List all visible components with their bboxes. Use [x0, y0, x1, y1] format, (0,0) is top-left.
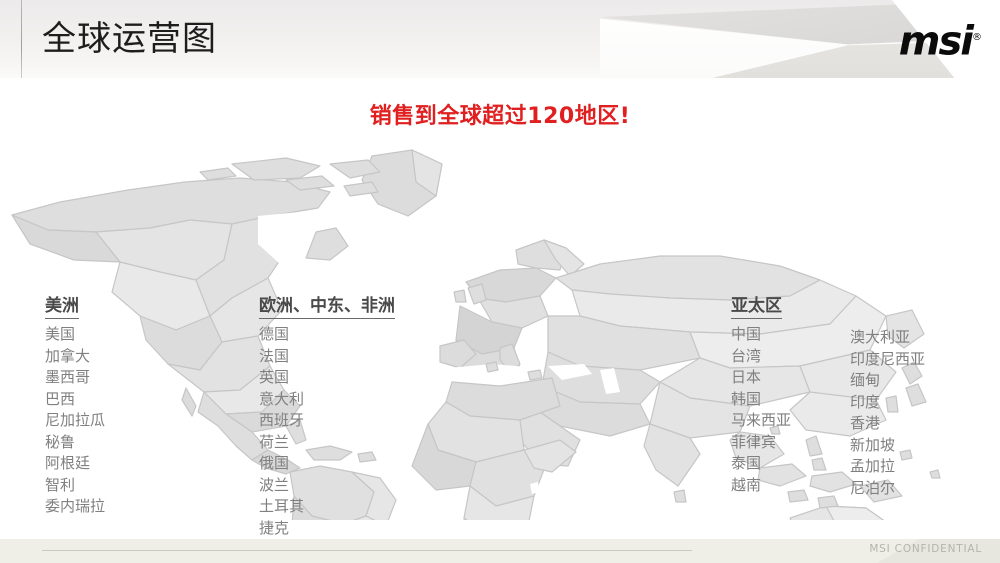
list-item: 马来西亚: [731, 410, 791, 432]
region-block-emea: 欧洲、中东、非洲 德国 法国 英国 意大利 西班牙 荷兰 俄国 波兰 土耳其 捷…: [259, 296, 395, 539]
confidential-label: MSI CONFIDENTIAL: [869, 543, 982, 555]
region-title-emea: 欧洲、中东、非洲: [259, 296, 395, 319]
region-block-americas: 美洲 美国 加拿大 墨西哥 巴西 尼加拉瓜 秘鲁 阿根廷 智利 委内瑞拉: [45, 296, 105, 518]
list-item: 德国: [259, 324, 395, 346]
region-block-apac: 亚太区 中国 台湾 日本 韩国 马来西亚 菲律宾 泰国 越南: [731, 296, 791, 496]
list-item: 荷兰: [259, 432, 395, 454]
msi-logo-text: msi: [899, 18, 972, 64]
region-list-apac-2: 澳大利亚 印度尼西亚 缅甸 印度 香港 新加坡 孟加拉 尼泊尔: [850, 327, 925, 499]
list-item: 波兰: [259, 475, 395, 497]
list-item: 意大利: [259, 389, 395, 411]
list-item: 土耳其: [259, 496, 395, 518]
registered-trademark-icon: ®: [972, 32, 982, 43]
list-item: 智利: [45, 475, 105, 497]
map-africa: [412, 378, 580, 520]
list-item: 俄国: [259, 453, 395, 475]
list-item: 阿根廷: [45, 453, 105, 475]
list-item: 越南: [731, 475, 791, 497]
slide-footer: MSI CONFIDENTIAL: [0, 539, 1000, 563]
header-divider: [21, 0, 22, 78]
region-block-apac-second-column: 澳大利亚 印度尼西亚 缅甸 印度 香港 新加坡 孟加拉 尼泊尔: [850, 322, 925, 499]
list-item: 香港: [850, 413, 925, 435]
list-item: 孟加拉: [850, 456, 925, 478]
list-item: 韩国: [731, 389, 791, 411]
region-title-apac: 亚太区: [731, 296, 782, 319]
list-item: 英国: [259, 367, 395, 389]
list-item: 加拿大: [45, 346, 105, 368]
list-item: 法国: [259, 346, 395, 368]
msi-logo: msi®: [899, 18, 982, 61]
list-item: 捷克: [259, 518, 395, 540]
list-item: 印度: [850, 392, 925, 414]
list-item: 墨西哥: [45, 367, 105, 389]
region-title-americas: 美洲: [45, 296, 79, 319]
footer-divider: [42, 550, 692, 551]
list-item: 美国: [45, 324, 105, 346]
region-list-apac: 中国 台湾 日本 韩国 马来西亚 菲律宾 泰国 越南: [731, 324, 791, 496]
slide-header: 全球运营图 msi®: [0, 0, 1000, 78]
list-item: 尼加拉瓜: [45, 410, 105, 432]
list-item: 新加坡: [850, 435, 925, 457]
region-list-americas: 美国 加拿大 墨西哥 巴西 尼加拉瓜 秘鲁 阿根廷 智利 委内瑞拉: [45, 324, 105, 518]
list-item: 澳大利亚: [850, 327, 925, 349]
page-title: 全球运营图: [42, 18, 217, 60]
list-item: 委内瑞拉: [45, 496, 105, 518]
list-item: 菲律宾: [731, 432, 791, 454]
list-item: 台湾: [731, 346, 791, 368]
list-item: 印度尼西亚: [850, 349, 925, 371]
list-item: 缅甸: [850, 370, 925, 392]
list-item: 中国: [731, 324, 791, 346]
region-list-emea: 德国 法国 英国 意大利 西班牙 荷兰 俄国 波兰 土耳其 捷克: [259, 324, 395, 539]
list-item: 西班牙: [259, 410, 395, 432]
list-item: 泰国: [731, 453, 791, 475]
list-item: 尼泊尔: [850, 478, 925, 500]
list-item: 巴西: [45, 389, 105, 411]
list-item: 秘鲁: [45, 432, 105, 454]
list-item: 日本: [731, 367, 791, 389]
